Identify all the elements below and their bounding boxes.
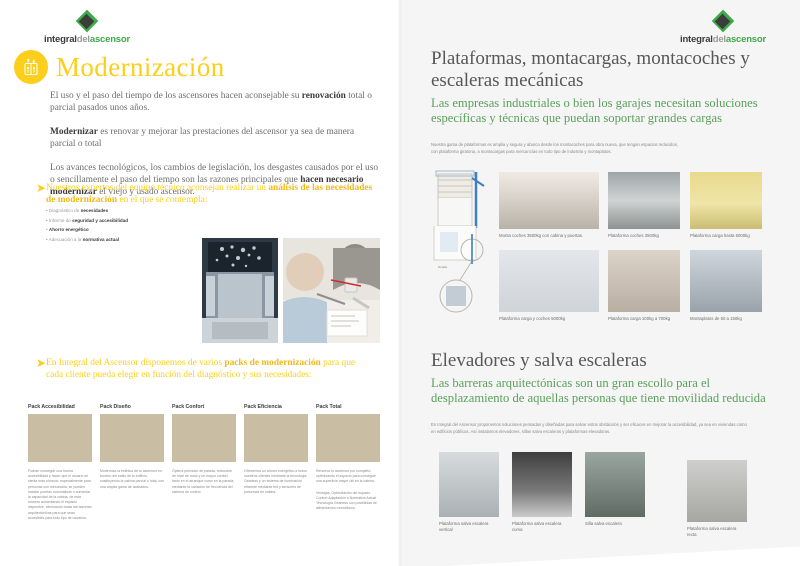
product-caption: Plataforma carga 100kg a 700kg xyxy=(608,316,680,322)
product-caption: Silla salva escalera xyxy=(585,521,645,527)
callout-analysis-post: en el que se contempla: xyxy=(117,195,207,205)
section-1-subtitle: Las empresas industriales o bien los gar… xyxy=(431,96,786,126)
section-1-title: Plataformas, montacargas, montacoches y … xyxy=(431,48,781,92)
pack-title: Pack Accesibilidad xyxy=(28,404,92,410)
brand-name-part2: del xyxy=(77,34,90,45)
product-caption: Plataforma salva escalera curva xyxy=(512,521,572,533)
pack-confort[interactable]: Pack Confort Óptima precisión de parada,… xyxy=(172,404,236,521)
diamond-logo-icon xyxy=(712,10,734,32)
packs-grid: Pack Accesibilidad Podrán conseguir una … xyxy=(28,404,383,521)
list-item: • Informe de seguridad y accesibilidad xyxy=(46,216,236,226)
right-page: integraldelascensor Plataformas, montaca… xyxy=(400,0,800,566)
left-page: integraldelascensor Modernización El uso… xyxy=(0,0,400,566)
brand-name-part2: del xyxy=(713,34,726,45)
consulting-meeting-photo xyxy=(283,238,380,343)
pack-image xyxy=(172,414,236,462)
pack-total[interactable]: Pack Total Renueva tu ascensor por compl… xyxy=(316,404,380,521)
paragraph-1-bold: renovación xyxy=(302,91,346,101)
product-caption: Plataforma carga hasta 6000kg xyxy=(690,233,762,239)
product-salva-escalera-curva[interactable]: Plataforma salva escalera curva xyxy=(512,452,572,533)
pack-title: Pack Confort xyxy=(172,404,236,410)
callout-analysis: ➤ Nuestros expertos del equipo técnico a… xyxy=(46,183,382,206)
pack-title: Pack Total xyxy=(316,404,380,410)
product-plataforma-carga-6000[interactable]: Plataforma carga hasta 6000kg xyxy=(690,172,762,239)
brand-name-part1: integral xyxy=(680,34,713,45)
product-plataforma-coches[interactable]: Plataforma coches 3500kg xyxy=(608,172,680,239)
product-caption: Plataforma coches 3500kg xyxy=(608,233,680,239)
diamond-logo-icon xyxy=(76,10,98,32)
product-salva-escalera-vertical[interactable]: Plataforma salva escalera vertical xyxy=(439,452,499,533)
pack-title: Pack Diseño xyxy=(100,404,164,410)
brand-logo-right: integraldelascensor xyxy=(680,10,766,45)
pack-diseno[interactable]: Pack Diseño Moderniza la estética de tu … xyxy=(100,404,164,521)
section-2-title: Elevadores y salva escaleras xyxy=(431,350,781,372)
pack-image xyxy=(244,414,308,462)
callout-packs: ➤ En Integral del Ascensor disponemos de… xyxy=(46,358,366,381)
paragraph-1-pre: El uso y el paso del tiempo de los ascen… xyxy=(50,91,302,101)
platform-technical-diagram: Detalle xyxy=(432,168,494,318)
brand-name-part3: ascensor xyxy=(90,34,130,45)
callout-packs-bold: packs de modernización xyxy=(224,358,320,368)
product-caption: Plataforma carga y coches 5000kg xyxy=(499,316,599,322)
paragraph-1: El uso y el paso del tiempo de los ascen… xyxy=(50,90,380,115)
product-montaplatos[interactable]: Montaplatos de 50 a 150kg xyxy=(690,250,762,322)
product-monta-coches[interactable]: Monta coches 3500kg con cabina y puertas… xyxy=(499,172,599,239)
callout-packs-pre: En Integral del Ascensor disponemos de v… xyxy=(46,358,224,368)
pack-description: Podrán conseguir una buena accesibilidad… xyxy=(28,469,92,521)
pack-image xyxy=(100,414,164,462)
section-1-intro: Nuestra gama de plataformas es amplia y … xyxy=(431,142,681,155)
elevator-cabin-illustration xyxy=(202,238,278,343)
pack-description-extra: Ventajas: Optimización del espacio Confo… xyxy=(316,491,380,512)
brand-logo-left: integraldelascensor xyxy=(44,10,130,45)
elevator-cabin-photo xyxy=(202,238,278,343)
pack-image xyxy=(28,414,92,462)
pack-description: Óptima precisión de parada, reducción de… xyxy=(172,469,236,495)
page-title: Modernización xyxy=(56,52,225,83)
arrow-icon: ➤ xyxy=(36,358,46,369)
pack-description: Moderniza la estética de tu ascensor en … xyxy=(100,469,164,490)
pack-description: Ofrecemos un ahorro energético a todos n… xyxy=(244,469,308,495)
pack-description: Renueva tu ascensor por completo, optimi… xyxy=(316,469,380,511)
pack-title: Pack Eficiencia xyxy=(244,404,308,410)
svg-text:Detalle: Detalle xyxy=(438,265,448,269)
product-silla-salva-escalera[interactable]: Silla salva escalera xyxy=(585,452,645,527)
product-plataforma-carga-coches[interactable]: Plataforma carga y coches 5000kg xyxy=(499,250,599,322)
brand-name-part3: ascensor xyxy=(726,34,766,45)
product-caption: Monta coches 3500kg con cabina y puertas… xyxy=(499,233,599,239)
product-caption: Montaplatos de 50 a 150kg xyxy=(690,316,762,322)
paragraph-2: Modernizar es renovar y mejorar las pres… xyxy=(50,126,380,151)
arrow-icon: ➤ xyxy=(36,183,46,194)
elevator-icon-badge xyxy=(14,50,48,84)
brand-name-part1: integral xyxy=(44,34,77,45)
product-caption: Plataforma salva escalera recta xyxy=(687,526,747,538)
product-caption: Plataforma salva escalera vertical xyxy=(439,521,499,533)
callout-analysis-pre: Nuestros expertos del equipo técnico aco… xyxy=(46,183,268,193)
elevator-icon xyxy=(21,57,41,77)
pack-description-main: Renueva tu ascensor por completo, optimi… xyxy=(316,469,376,483)
product-plataforma-carga-700[interactable]: Plataforma carga 100kg a 700kg xyxy=(608,250,680,322)
section-2-subtitle: Las barreras arquitectónicas son un gran… xyxy=(431,376,786,406)
list-item: • Ahorro energético xyxy=(46,225,236,235)
pack-image xyxy=(316,414,380,462)
list-item: • Diagnóstico de necesidades xyxy=(46,206,236,216)
section-2-intro: En Integral del Ascensor proponemos solu… xyxy=(431,422,751,435)
meeting-illustration xyxy=(283,238,380,343)
paragraph-2-bold: Modernizar xyxy=(50,127,98,137)
pack-accesibilidad[interactable]: Pack Accesibilidad Podrán conseguir una … xyxy=(28,404,92,521)
page-gutter xyxy=(398,0,402,566)
brochure-spread: integraldelascensor Modernización El uso… xyxy=(0,0,800,566)
product-salva-escalera-recta[interactable]: Plataforma salva escalera recta xyxy=(687,460,747,538)
pack-eficiencia[interactable]: Pack Eficiencia Ofrecemos un ahorro ener… xyxy=(244,404,308,521)
